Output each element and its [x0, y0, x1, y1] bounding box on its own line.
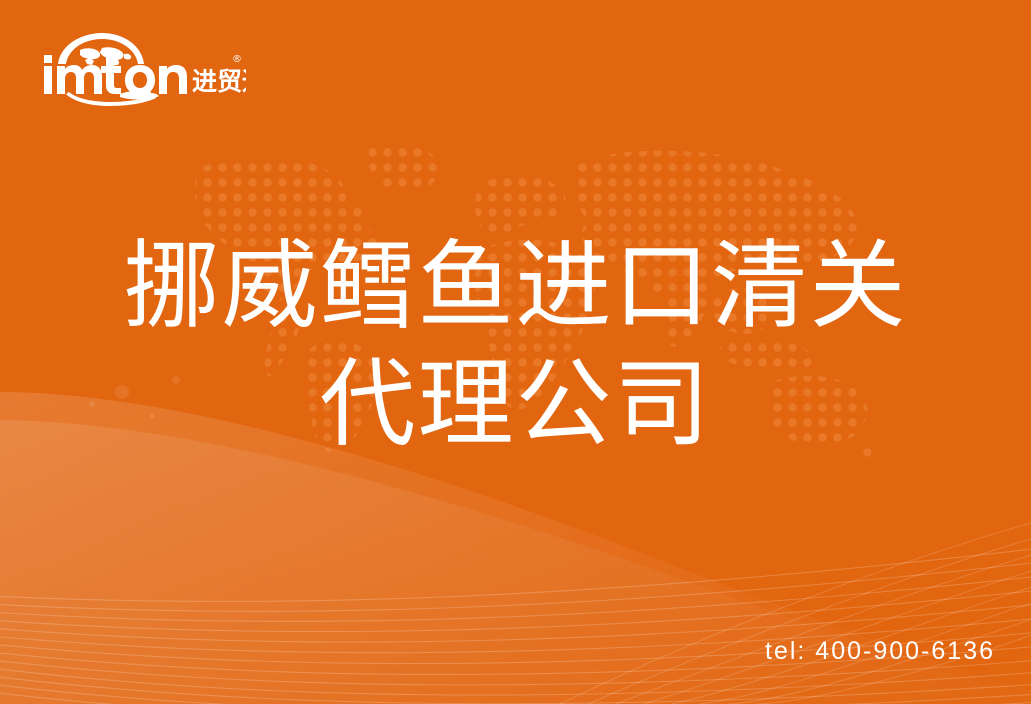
headline-line-1: 挪威鳕鱼进口清关 — [0, 228, 1031, 346]
promo-banner: 进贸通 ® 挪威鳕鱼进口清关 代理公司 tel: 400-900-6136 — [0, 0, 1031, 704]
contact-telephone[interactable]: tel: 400-900-6136 — [765, 636, 995, 666]
globe-icon — [58, 33, 144, 65]
registered-trademark-icon: ® — [232, 54, 242, 65]
logo-chinese-name: 进贸通 — [192, 67, 246, 96]
headline-line-2: 代理公司 — [0, 346, 1031, 464]
imton-logo[interactable]: 进贸通 ® — [36, 28, 246, 106]
page-title: 挪威鳕鱼进口清关 代理公司 — [0, 228, 1031, 464]
